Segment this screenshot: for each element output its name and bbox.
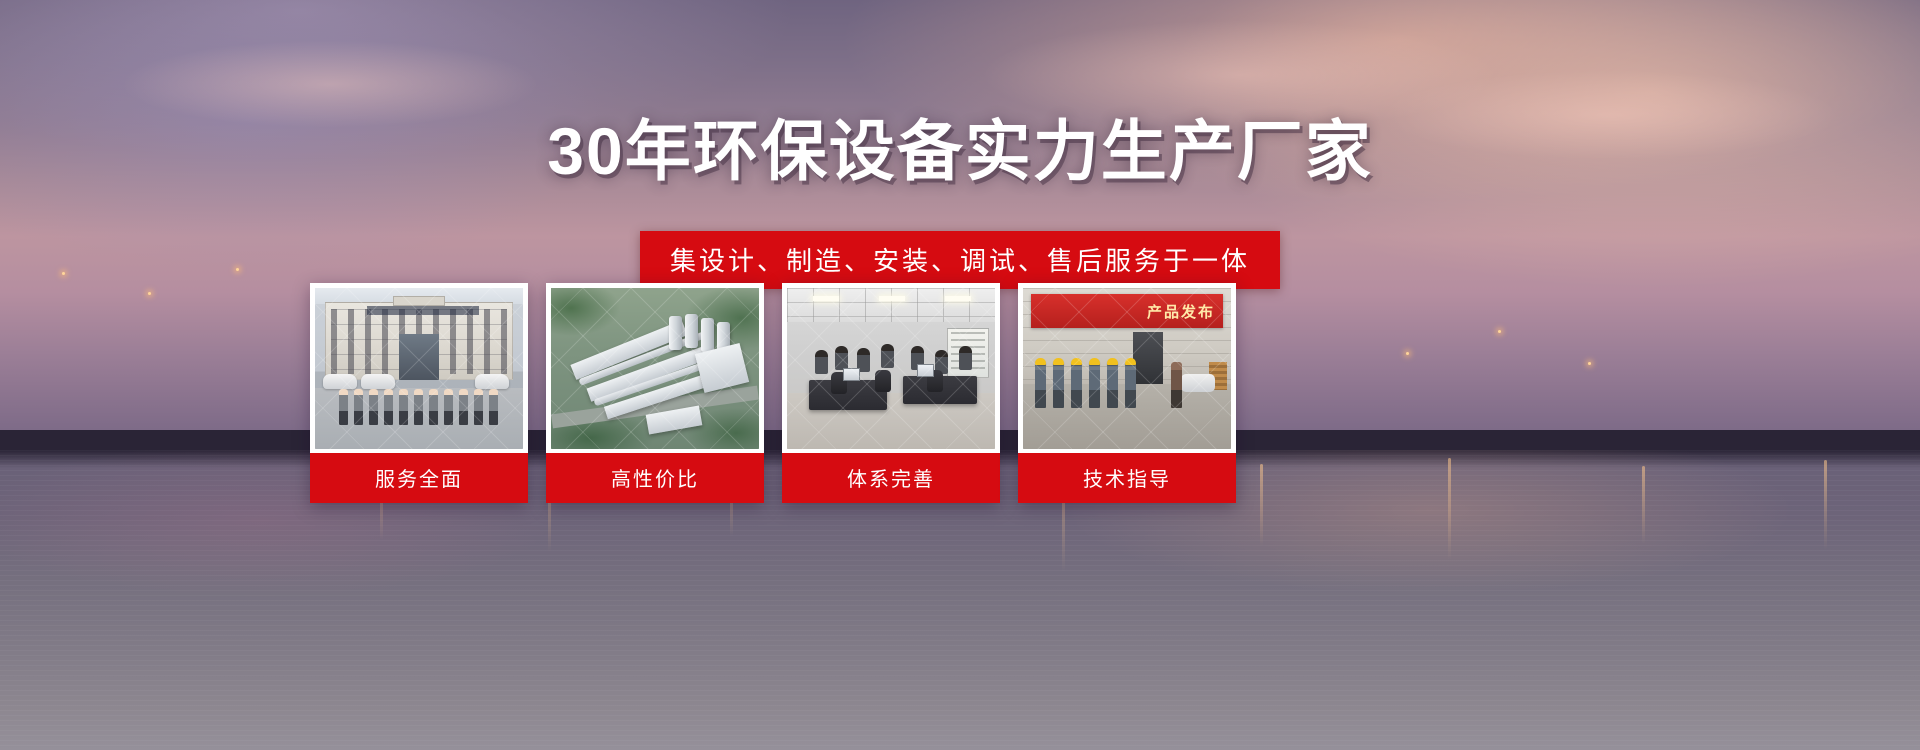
feature-card-list: 服务全面 高性价比 — [310, 283, 1236, 503]
card-photo-factory-aerial — [551, 288, 759, 449]
feature-card[interactable]: 服务全面 — [310, 283, 528, 503]
subtitle-container: 集设计、制造、安装、调试、售后服务于一体 — [0, 231, 1920, 289]
card-photo-office-building — [315, 288, 523, 449]
feature-card[interactable]: 高性价比 — [546, 283, 764, 503]
card-caption: 体系完善 — [782, 453, 1000, 503]
card-caption: 技术指导 — [1018, 453, 1236, 503]
card-photo-office-team — [787, 288, 995, 449]
card-caption: 高性价比 — [546, 453, 764, 503]
subtitle-banner: 集设计、制造、安装、调试、售后服务于一体 — [640, 231, 1280, 289]
feature-card[interactable]: 体系完善 — [782, 283, 1000, 503]
hero-banner: 30年环保设备实力生产厂家 集设计、制造、安装、调试、售后服务于一体 — [0, 0, 1920, 750]
card-photo-workshop: 产品发布 — [1023, 288, 1231, 449]
workshop-banner-text: 产品发布 — [1031, 294, 1223, 328]
card-caption: 服务全面 — [310, 453, 528, 503]
feature-card[interactable]: 产品发布 技术指导 — [1018, 283, 1236, 503]
page-title: 30年环保设备实力生产厂家 — [0, 98, 1920, 194]
